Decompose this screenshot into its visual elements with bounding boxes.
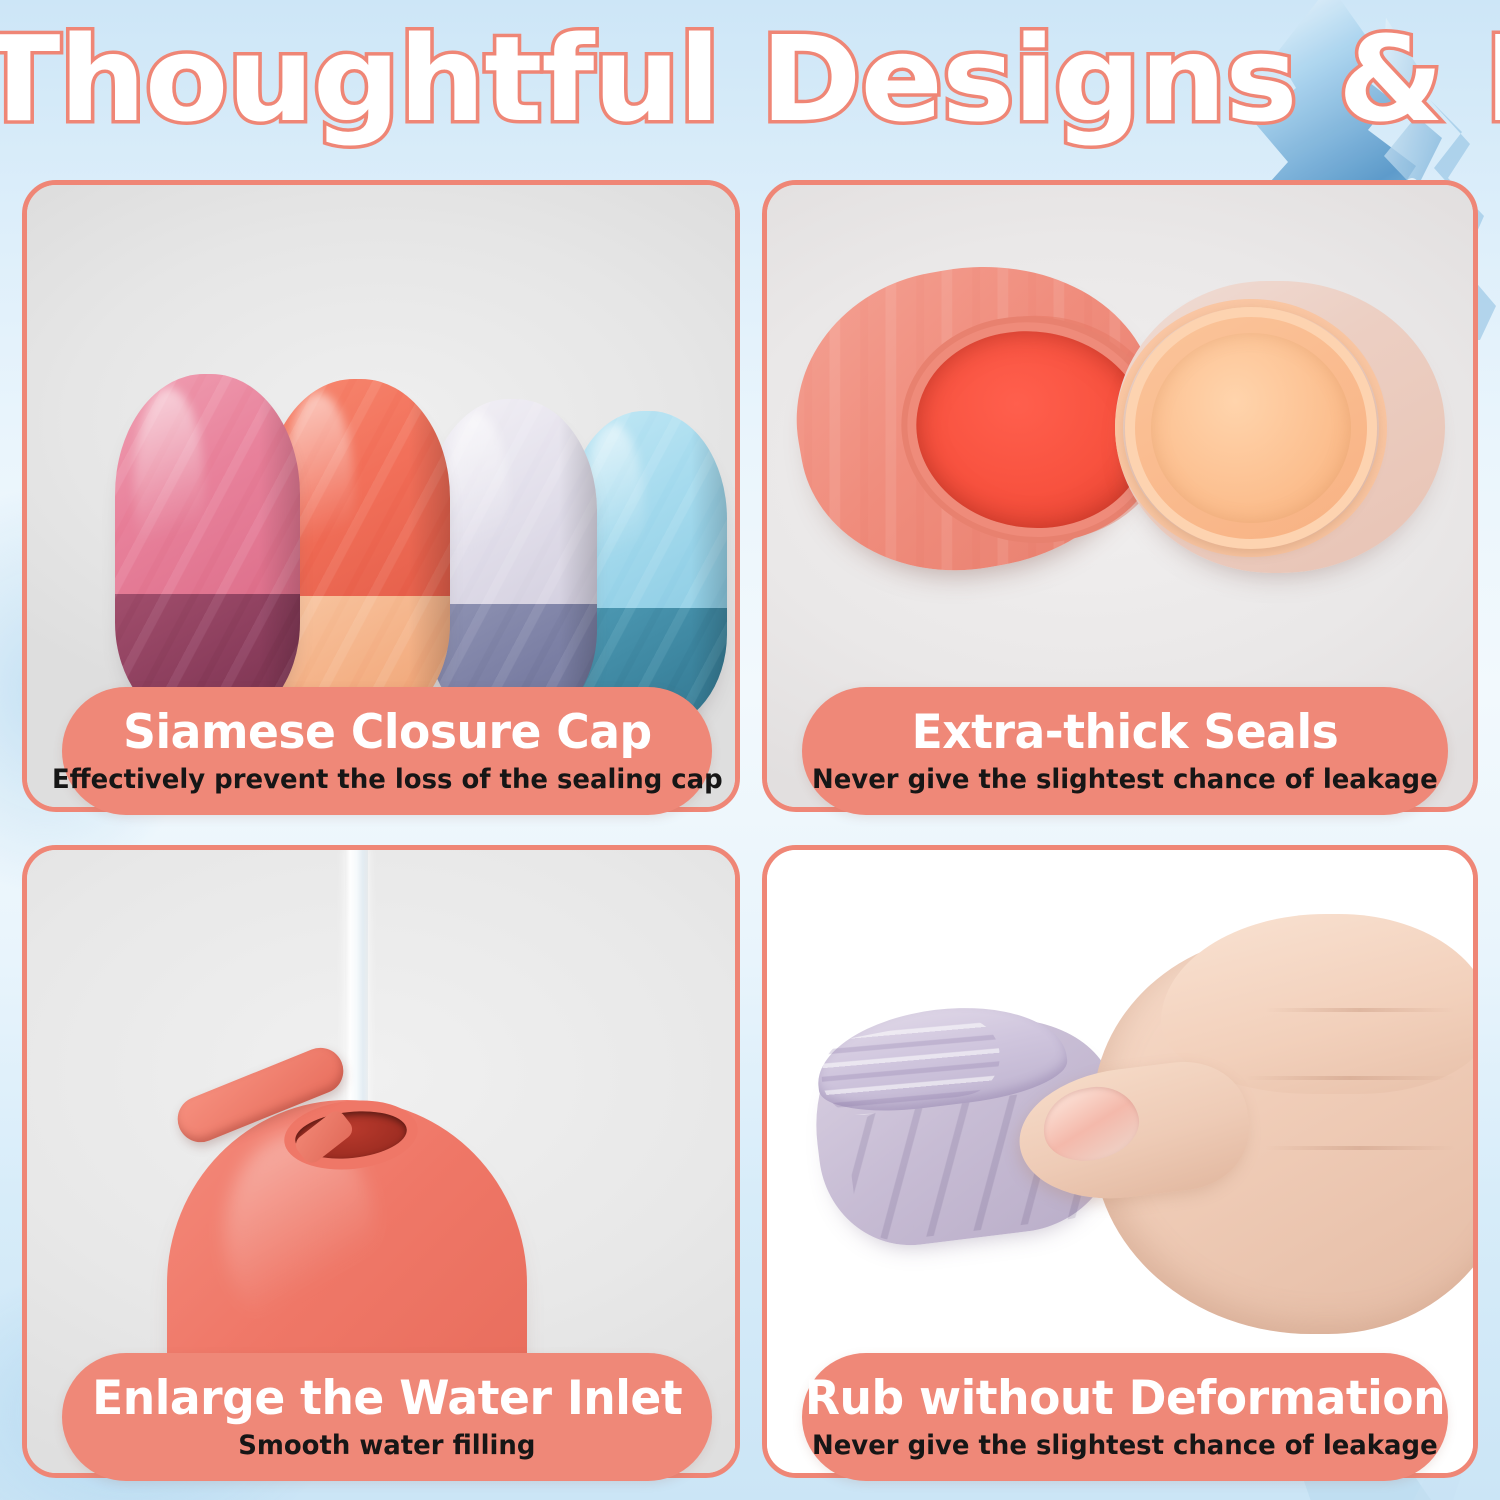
- caption-subtitle: Never give the slightest chance of leaka…: [812, 763, 1438, 797]
- caption-enlarge-water-inlet: Enlarge the Water Inlet Smooth water fil…: [62, 1353, 712, 1481]
- seal-peach: [1115, 281, 1445, 573]
- caption-subtitle: Effectively prevent the loss of the seal…: [52, 763, 723, 797]
- caption-subtitle: Never give the slightest chance of leaka…: [812, 1429, 1438, 1463]
- page-title: Thoughtful Designs & Details: [0, 16, 1500, 142]
- caption-title: Rub without Deformation: [805, 1372, 1445, 1426]
- caption-title: Enlarge the Water Inlet: [92, 1372, 682, 1426]
- caption-siamese-closure-cap: Siamese Closure Cap Effectively prevent …: [62, 687, 712, 815]
- hand: [1013, 890, 1478, 1350]
- caption-rub-without-deformation: Rub without Deformation Never give the s…: [802, 1353, 1448, 1481]
- bottle-lavender: [427, 399, 597, 729]
- caption-extra-thick-seals: Extra-thick Seals Never give the slighte…: [802, 687, 1448, 815]
- infographic-page: Thoughtful Designs & Details: [0, 0, 1500, 1500]
- caption-title: Siamese Closure Cap: [123, 706, 651, 760]
- caption-subtitle: Smooth water filling: [238, 1429, 535, 1463]
- caption-title: Extra-thick Seals: [912, 706, 1339, 760]
- bottle-pink: [115, 374, 300, 729]
